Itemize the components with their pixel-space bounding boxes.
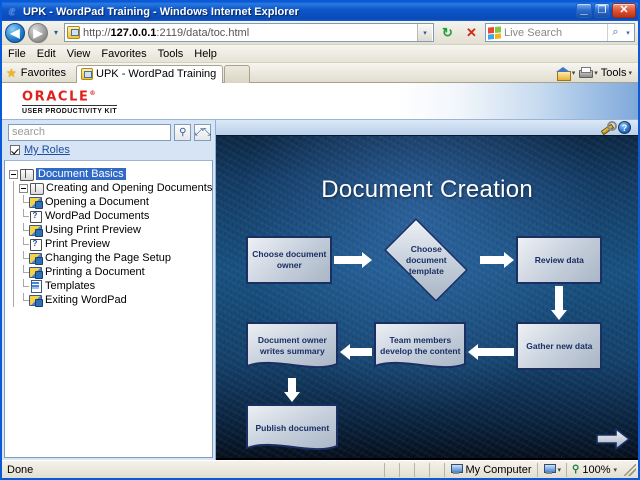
flow-arrow xyxy=(282,378,302,402)
menu-item-help[interactable]: Help xyxy=(194,48,217,60)
chevron-down-icon[interactable]: ▾ xyxy=(628,69,632,77)
arrow-head xyxy=(284,392,300,402)
menu-item-tools[interactable]: Tools xyxy=(158,48,184,60)
flow-arrow xyxy=(480,250,514,270)
tree-item[interactable]: Exiting WordPad xyxy=(9,293,212,307)
menu-item-view[interactable]: View xyxy=(67,48,91,60)
tree-item[interactable]: Templates xyxy=(9,279,212,293)
flow-node-label: Choosedocumenttemplate xyxy=(406,244,447,277)
maximize-button[interactable]: ❐ xyxy=(594,3,610,18)
computer-icon xyxy=(450,464,462,475)
tree-indent xyxy=(9,293,19,307)
tree-item-label: WordPad Documents xyxy=(45,210,149,222)
flow-node-label: Review data xyxy=(535,255,584,266)
protected-mode-button[interactable]: ▾ xyxy=(538,462,567,478)
security-zone[interactable]: My Computer xyxy=(445,462,536,478)
my-roles-checkbox[interactable] xyxy=(10,145,20,155)
flow-node-label: Choose document owner xyxy=(250,249,328,271)
tools-menu-button[interactable]: Tools ▾ xyxy=(601,67,632,79)
chevron-down-icon[interactable]: ▾ xyxy=(417,24,432,41)
topic-icon xyxy=(29,252,42,264)
my-roles-link[interactable]: My Roles xyxy=(24,144,70,156)
status-message: Done xyxy=(2,464,384,476)
tree-item[interactable]: Document Basics xyxy=(9,167,212,181)
wrench-icon[interactable] xyxy=(600,121,613,134)
tree-item-label: Opening a Document xyxy=(45,196,149,208)
flow-node-label: Gather new data xyxy=(526,341,592,352)
chevron-down-icon[interactable]: ▾ xyxy=(572,69,576,77)
tree-item-label: Templates xyxy=(45,280,95,292)
security-zone-label: My Computer xyxy=(465,464,531,476)
content-pane: Document Creation Choose document ownerC… xyxy=(216,120,638,460)
status-slot-3 xyxy=(415,462,429,478)
arrow-shaft xyxy=(334,256,364,264)
page-body: search ⚲ ⤢⤡ My Roles Document BasicsCrea… xyxy=(2,120,638,460)
new-tab-button[interactable] xyxy=(224,65,250,83)
tree-indent xyxy=(9,209,19,223)
presentation-stage: Document Creation Choose document ownerC… xyxy=(216,135,638,460)
chevron-down-icon[interactable]: ▾ xyxy=(558,466,562,474)
flow-arrow xyxy=(340,342,372,362)
forward-button[interactable]: ▶ xyxy=(28,23,48,43)
address-input[interactable]: http://127.0.0.1:2119/data/toc.html ▾ xyxy=(64,23,434,42)
tree-guide xyxy=(19,293,29,307)
arrow-shaft xyxy=(348,348,372,356)
help-icon[interactable] xyxy=(618,121,631,134)
zoom-control[interactable]: ⚲ 100% ▾ xyxy=(567,462,622,478)
tree-item-label: Printing a Document xyxy=(45,266,145,278)
tree-guide xyxy=(19,223,29,237)
favorites-and-tab-bar: ★ Favorites UPK - WordPad Training ▾ ▾ T… xyxy=(2,63,638,83)
status-slot-1 xyxy=(385,462,399,478)
refresh-icon[interactable]: ↻ xyxy=(437,23,458,43)
home-button[interactable]: ▾ xyxy=(556,67,576,79)
tree-guide xyxy=(19,265,29,279)
history-dropdown-icon[interactable]: ▾ xyxy=(51,28,61,37)
flow-node: Publish document xyxy=(246,404,338,458)
resize-grip[interactable] xyxy=(624,464,636,476)
my-roles-row: My Roles xyxy=(2,143,215,157)
navigation-pane: search ⚲ ⤢⤡ My Roles Document BasicsCrea… xyxy=(2,120,216,460)
outline-tree: Document BasicsCreating and Opening Docu… xyxy=(4,160,213,458)
minimize-button[interactable]: _ xyxy=(576,3,592,18)
oracle-logo: ORACLE® USER PRODUCTIVITY KIT xyxy=(22,87,117,115)
tree-item-label: Exiting WordPad xyxy=(45,294,127,306)
flow-node-label: Publish document xyxy=(252,423,332,434)
tree-indent xyxy=(9,181,19,195)
internet-explorer-icon xyxy=(5,5,19,19)
menu-item-favorites[interactable]: Favorites xyxy=(101,48,146,60)
zoom-icon: ⚲ xyxy=(572,464,579,475)
flow-arrow xyxy=(549,286,569,320)
book-icon xyxy=(20,168,33,180)
oracle-upk-banner: ORACLE® USER PRODUCTIVITY KIT xyxy=(2,83,638,120)
url-text: http://127.0.0.1:2119/data/toc.html xyxy=(83,27,417,39)
status-slot-2 xyxy=(400,462,414,478)
window-title: UPK - WordPad Training - Windows Interne… xyxy=(23,6,299,18)
flow-node: Choose document owner xyxy=(246,236,332,284)
page-icon xyxy=(67,26,80,39)
print-button[interactable]: ▾ xyxy=(578,67,598,78)
topic-icon xyxy=(29,294,42,306)
close-button[interactable]: ✕ xyxy=(612,3,636,18)
tree-guide xyxy=(19,251,29,265)
concept-icon xyxy=(29,210,42,222)
flow-node: Choosedocumenttemplate xyxy=(374,228,478,292)
zoom-level-label: 100% xyxy=(582,464,610,476)
menu-item-edit[interactable]: Edit xyxy=(37,48,56,60)
flow-node: Gather new data xyxy=(516,322,602,370)
tree-item-label: Document Basics xyxy=(36,168,126,180)
topic-icon xyxy=(29,224,42,236)
tree-item[interactable]: Creating and Opening Documents xyxy=(9,181,212,195)
tools-label: Tools xyxy=(601,67,627,79)
search-input[interactable]: search xyxy=(8,124,171,141)
magnifier-icon[interactable]: ⚲ xyxy=(174,124,191,141)
arrow-head xyxy=(340,344,350,360)
next-arrow-icon[interactable] xyxy=(596,428,630,450)
tree-indent xyxy=(9,237,19,251)
favorites-button[interactable]: Favorites xyxy=(21,67,66,79)
status-bar: Done My Computer ▾ ⚲ 100% ▾ xyxy=(2,460,638,478)
tree-guide xyxy=(19,279,29,293)
live-search-placeholder: Live Search xyxy=(504,27,607,39)
star-icon: ★ xyxy=(6,66,17,80)
tree-guide xyxy=(19,209,29,223)
tree-indent xyxy=(9,195,19,209)
tree-item-label: Using Print Preview xyxy=(45,224,141,236)
tree-indent xyxy=(9,279,19,293)
tab-label: UPK - WordPad Training xyxy=(96,68,216,80)
tab-favicon-icon xyxy=(81,68,93,80)
flow-node-label: Team members develop the content xyxy=(374,335,466,357)
search-icon[interactable]: ⌕ xyxy=(607,24,623,41)
flow-node: Review data xyxy=(516,236,602,284)
tree-expander[interactable] xyxy=(9,170,18,179)
topic-icon xyxy=(29,196,42,208)
arrow-head xyxy=(551,310,567,320)
topic-icon xyxy=(29,266,42,278)
tab-upk-wordpad-training[interactable]: UPK - WordPad Training xyxy=(76,65,223,83)
tree-indent xyxy=(9,223,19,237)
menu-item-file[interactable]: File xyxy=(8,48,26,60)
upk-subtitle: USER PRODUCTIVITY KIT xyxy=(22,105,117,115)
tree-item[interactable]: WordPad Documents xyxy=(9,209,212,223)
search-provider-chevron-icon[interactable]: ▾ xyxy=(623,24,633,41)
tree-item[interactable]: Using Print Preview xyxy=(9,223,212,237)
page-title: Document Creation xyxy=(216,176,638,204)
window-controls: _ ❐ ✕ xyxy=(576,3,636,18)
expand-icon[interactable]: ⤢⤡ xyxy=(194,124,211,141)
shield-icon xyxy=(543,464,555,475)
tree-item[interactable]: Printing a Document xyxy=(9,265,212,279)
flow-node-label: Document owner writes summary xyxy=(246,335,338,357)
title-bar: UPK - WordPad Training - Windows Interne… xyxy=(2,2,638,21)
arrow-shaft xyxy=(476,348,514,356)
printer-icon xyxy=(578,67,592,78)
tree-item-label: Print Preview xyxy=(45,238,110,250)
back-button[interactable]: ◀ xyxy=(5,23,25,43)
arrow-head xyxy=(504,252,514,268)
tree-item[interactable]: Opening a Document xyxy=(9,195,212,209)
arrow-shaft xyxy=(480,256,506,264)
tree-item-label: Changing the Page Setup xyxy=(45,252,171,264)
flow-node: Document owner writes summary xyxy=(246,322,338,376)
book-icon xyxy=(30,182,43,194)
chevron-down-icon[interactable]: ▾ xyxy=(594,69,598,77)
home-icon xyxy=(556,67,570,79)
search-row: search ⚲ ⤢⤡ xyxy=(2,120,215,143)
windows-logo-icon xyxy=(488,26,501,39)
arrow-head xyxy=(362,252,372,268)
tab-strip: UPK - WordPad Training xyxy=(76,63,552,83)
tree-item-label: Creating and Opening Documents xyxy=(46,182,212,194)
tree-guide xyxy=(19,195,29,209)
status-slot-4 xyxy=(430,462,444,478)
tree-indent xyxy=(9,265,19,279)
arrow-head xyxy=(468,344,478,360)
tree-indent xyxy=(9,251,19,265)
command-bar: ▾ ▾ Tools ▾ xyxy=(556,67,638,79)
chevron-down-icon[interactable]: ▾ xyxy=(613,466,617,474)
live-search-input[interactable]: Live Search ⌕ ▾ xyxy=(485,23,635,42)
content-toolbar xyxy=(216,120,638,135)
stop-icon[interactable]: ✕ xyxy=(461,23,482,43)
tree-item[interactable]: Print Preview xyxy=(9,237,212,251)
concept-icon xyxy=(29,238,42,250)
address-bar: ◀ ▶ ▾ http://127.0.0.1:2119/data/toc.htm… xyxy=(2,21,638,45)
oracle-wordmark: ORACLE® xyxy=(22,87,117,103)
flow-node: Team members develop the content xyxy=(374,322,466,376)
tree-item[interactable]: Changing the Page Setup xyxy=(9,251,212,265)
menu-bar: File Edit View Favorites Tools Help xyxy=(2,45,638,63)
flow-arrow xyxy=(334,250,372,270)
flow-arrow xyxy=(468,342,514,362)
tree-expander[interactable] xyxy=(19,184,28,193)
document-icon xyxy=(29,280,42,292)
arrow-shaft xyxy=(555,286,563,312)
browser-window: UPK - WordPad Training - Windows Interne… xyxy=(0,0,640,480)
tree-guide xyxy=(19,237,29,251)
